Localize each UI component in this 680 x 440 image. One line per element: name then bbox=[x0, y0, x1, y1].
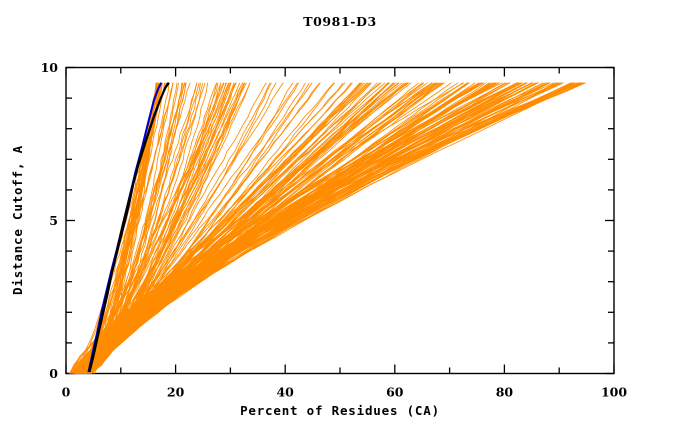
x-axis-label: Percent of Residues (CA) bbox=[240, 403, 440, 418]
distance-cutoff-plot: T0981-D3 0204060801000510 Percent of Res… bbox=[0, 0, 680, 440]
x-tick-label: 60 bbox=[386, 385, 404, 400]
y-tick-label: 5 bbox=[49, 213, 58, 228]
y-axis-label: Distance Cutoff, A bbox=[10, 145, 25, 295]
y-tick-label: 0 bbox=[49, 366, 58, 381]
x-tick-label: 80 bbox=[496, 385, 514, 400]
x-tick-label: 20 bbox=[167, 385, 185, 400]
page-title: T0981-D3 bbox=[303, 14, 377, 29]
x-tick-label: 40 bbox=[276, 385, 294, 400]
x-tick-label: 100 bbox=[601, 385, 627, 400]
x-tick-label: 0 bbox=[62, 385, 71, 400]
y-tick-label: 10 bbox=[41, 60, 59, 75]
